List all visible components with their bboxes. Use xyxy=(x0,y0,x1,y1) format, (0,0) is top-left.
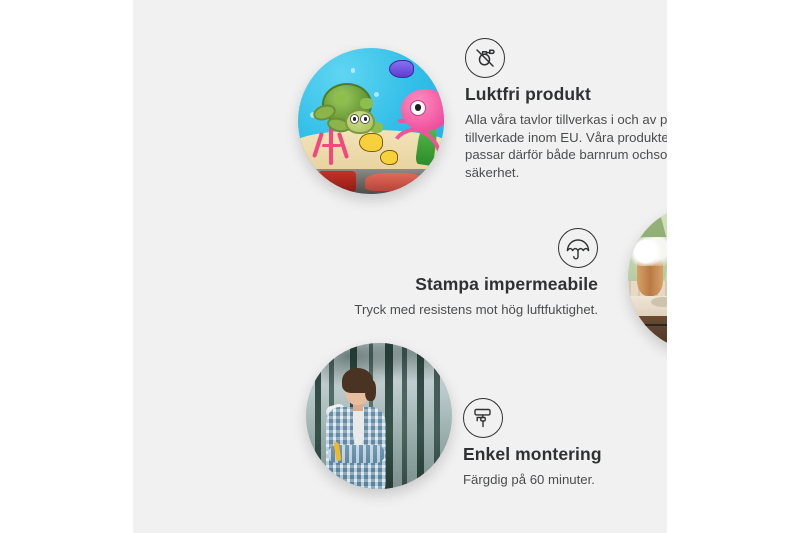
forest-illustration xyxy=(306,343,452,489)
feature-easy-mounting: Enkel montering Färgdig på 60 minuter. xyxy=(463,398,667,489)
feature-title: Stampa impermeabile xyxy=(338,274,598,295)
fish-icon xyxy=(359,133,383,153)
hair xyxy=(342,368,373,394)
screenshot-canvas: Luktfri produkt Alla våra tavlor tillver… xyxy=(0,0,800,533)
photo-woman-with-paint-roller xyxy=(306,343,452,489)
feature-body: Alla våra tavlor tillverkas i och av pro… xyxy=(465,111,667,181)
soap-dish-icon xyxy=(651,297,667,307)
flowers-icon xyxy=(629,237,667,266)
feature-title: Luktfri produkt xyxy=(465,84,667,105)
t-shirt xyxy=(353,407,365,447)
feature-title: Enkel montering xyxy=(463,444,667,465)
bubble-icon xyxy=(351,68,355,72)
fish-icon xyxy=(389,60,414,78)
photo-bathroom-leaf-wallpaper xyxy=(628,205,667,351)
vanity-cabinet xyxy=(628,316,667,351)
feature-icon-wrap xyxy=(465,38,667,78)
feature-odour-free: Luktfri produkt Alla våra tavlor tillver… xyxy=(465,38,667,181)
woman-figure xyxy=(324,372,397,489)
underwater-illustration xyxy=(298,48,444,194)
feature-waterproof-print: Stampa impermeabile Tryck med resistens … xyxy=(338,228,598,319)
no-spray-bottle-icon xyxy=(465,38,505,78)
feature-body: Färgdig på 60 minuter. xyxy=(463,471,667,489)
photo-underwater-scene xyxy=(298,48,444,194)
fish-icon xyxy=(380,150,398,165)
feature-body: Tryck med resistens mot hög luftfuktighe… xyxy=(338,301,598,319)
turtle-icon xyxy=(316,83,380,133)
octopus-icon xyxy=(386,89,444,156)
foreground-strip xyxy=(298,169,444,194)
feature-icon-wrap xyxy=(463,398,667,438)
paint-roller-icon xyxy=(463,398,503,438)
bathroom-illustration xyxy=(628,205,667,351)
content-panel: Luktfri produkt Alla våra tavlor tillver… xyxy=(133,0,667,533)
umbrella-icon xyxy=(558,228,598,268)
feature-icon-wrap xyxy=(338,228,598,268)
